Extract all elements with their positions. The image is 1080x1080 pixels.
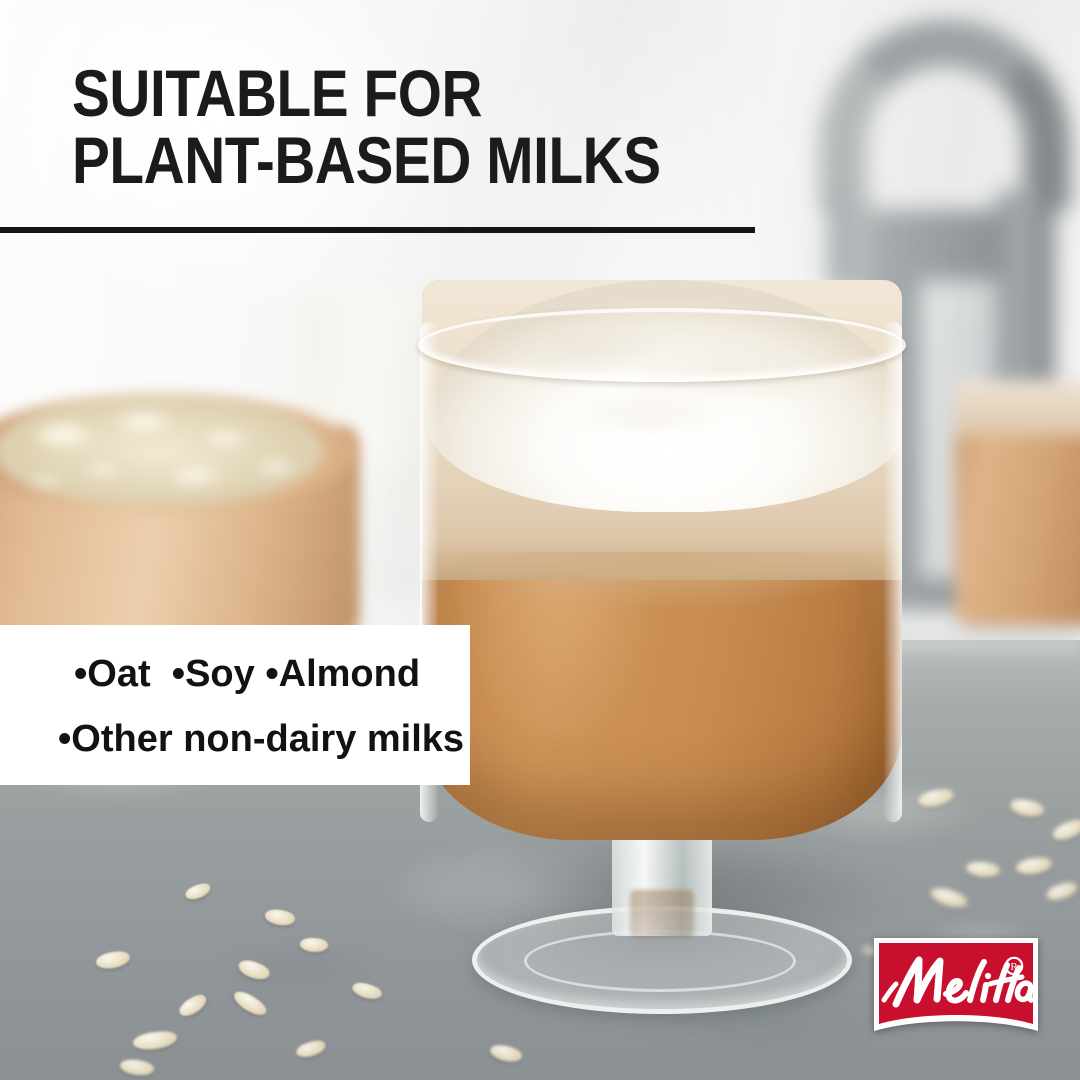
second-coffee-glass (955, 380, 1080, 640)
bullet-line-other-milks: •Other non-dairy milks (58, 718, 464, 761)
melitta-logo: R (874, 938, 1038, 1038)
wooden-oat-bowl (0, 385, 360, 660)
svg-text:R: R (1010, 961, 1018, 973)
glass-rim (418, 308, 906, 382)
glass-right-highlight (884, 322, 902, 822)
crema-edge (422, 552, 902, 610)
latte-glass (416, 270, 916, 990)
glass-foot-inner-ring (524, 930, 796, 992)
bullet-line-milk-types: •Oat •Soy •Almond (74, 653, 420, 696)
promo-image: SUITABLE FOR PLANT-BASED MILKS •Oat •Soy… (0, 0, 1080, 1080)
spout-arm (820, 20, 1070, 210)
page-title: SUITABLE FOR PLANT-BASED MILKS (72, 60, 846, 195)
glass-stem-shadow (630, 890, 694, 938)
bullet-list-card (0, 625, 470, 785)
title-divider-rule (0, 227, 755, 233)
oat-flakes-in-bowl (0, 395, 324, 507)
second-glass-foam (955, 380, 1080, 436)
